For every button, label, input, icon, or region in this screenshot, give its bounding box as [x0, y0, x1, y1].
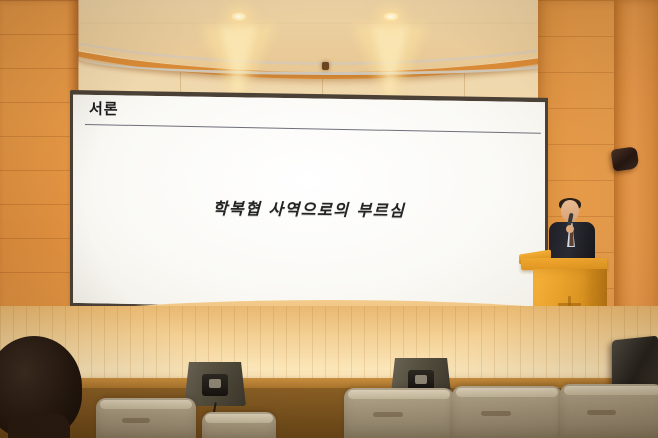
presenter-hand: [566, 225, 574, 233]
audience-seat: [96, 398, 196, 438]
light-beam-right-core: [371, 26, 409, 98]
auditorium-photo: 서론 학복협 사역으로의 부르심: [0, 0, 658, 438]
spotlight-left-icon: [231, 12, 247, 21]
seat-slot: [587, 410, 616, 415]
audience-seat: [202, 412, 276, 438]
wall-rail: [78, 24, 598, 75]
audience-member-neck: [8, 414, 70, 438]
monitor-port: [415, 375, 427, 384]
audience-seat: [344, 388, 454, 438]
projection-screen: 서론 학복협 사역으로의 부르심: [73, 92, 545, 314]
slide-title: 서론: [89, 98, 119, 119]
seat-rail: [205, 414, 273, 423]
stage-monitor-left: [184, 362, 246, 406]
seat-rail: [100, 400, 192, 409]
seat-rail: [456, 388, 557, 397]
monitor-port: [209, 379, 221, 388]
audience-seat: [452, 386, 562, 438]
seat-slot: [481, 411, 512, 416]
audience-seat: [560, 384, 658, 438]
seat-slot: [122, 418, 150, 423]
seat-rail: [564, 386, 658, 395]
seat-slot: [373, 412, 404, 417]
presenter: [545, 198, 601, 264]
spotlight-right-icon: [383, 12, 399, 21]
light-beam-left-core: [219, 26, 257, 98]
seat-rail: [348, 390, 449, 399]
wall-fixture-icon: [322, 62, 329, 70]
